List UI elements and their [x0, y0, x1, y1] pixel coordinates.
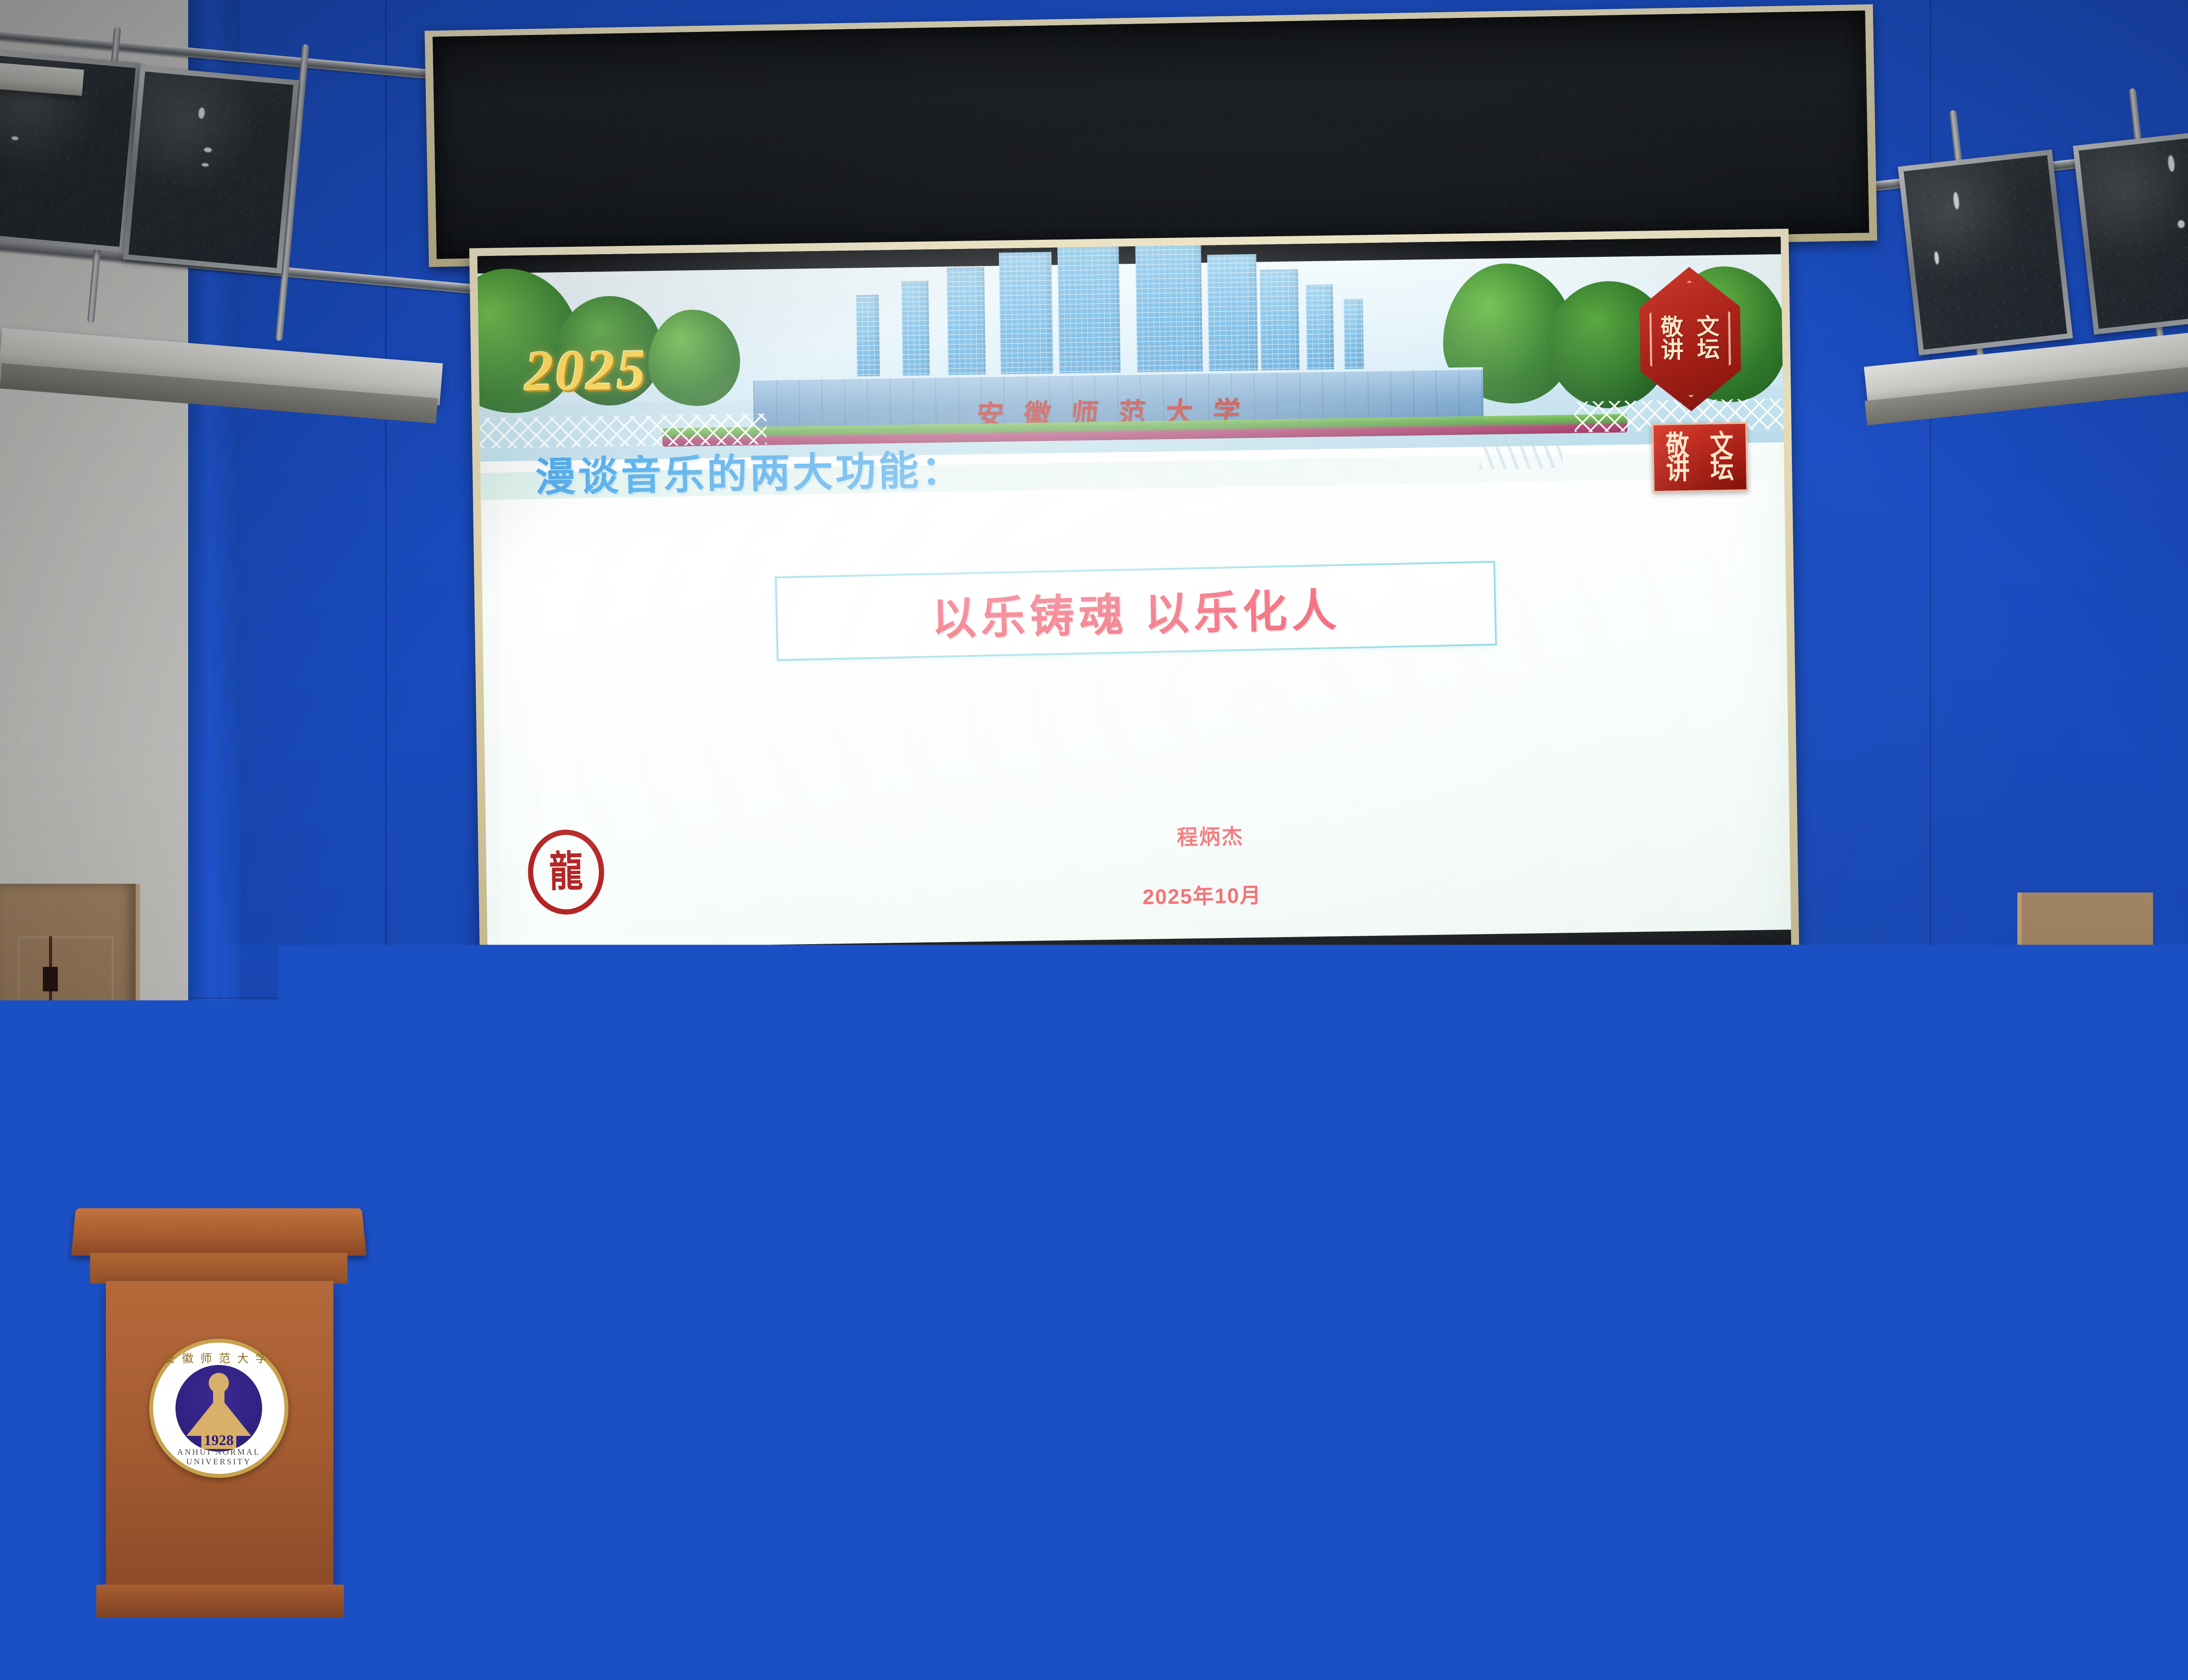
person-hair-side	[1419, 1122, 1434, 1172]
chair-headrest	[1746, 1075, 1814, 1199]
emblem-char: 文	[1690, 316, 1726, 339]
projection-screen-frame: 安徽师范大学 2025 敬 文 讲 坛 漫谈音乐的两大	[469, 229, 1799, 1005]
balcony-glass-panel	[123, 66, 299, 273]
podium-microphone-led-icon	[274, 1120, 282, 1125]
emblem-char: 坛	[1690, 339, 1726, 361]
seal-char: 讲	[1655, 455, 1700, 484]
plaque-char: 讲	[2148, 1073, 2188, 1158]
slide-headline-box: 以乐铸魂 以乐化人	[775, 561, 1497, 661]
balcony-glass-panel	[1898, 150, 2073, 356]
seal-char: 坛	[1700, 455, 1744, 483]
podium-neck	[90, 1253, 347, 1284]
projection-screen: 安徽师范大学 2025 敬 文 讲 坛 漫谈音乐的两大	[477, 237, 1792, 997]
emblem-char: 讲	[1655, 339, 1690, 362]
slide-seal-glyph: 龍	[549, 850, 583, 893]
balcony-right	[1838, 0, 2188, 341]
banner-emblem-inner: 敬 文 讲 坛	[1649, 280, 1732, 398]
slide-title: 漫谈音乐的两大功能：	[535, 437, 964, 503]
banner-year: 2025	[524, 336, 648, 404]
slide-circular-seal: 龍	[527, 829, 605, 915]
stage-floor	[0, 1347, 2188, 1680]
lecture-hall-photo: 安徽师范大学 2025 敬 文 讲 坛 漫谈音乐的两大	[0, 0, 2188, 1680]
chair-headrest	[2037, 1070, 2105, 1193]
glasses-lens	[1341, 1151, 1375, 1177]
chair-headrest	[626, 1100, 694, 1224]
title-decor-stripes	[1479, 434, 1562, 469]
glasses-lens	[1384, 1151, 1418, 1177]
balcony-glass-panel	[2073, 128, 2188, 335]
slide-date: 2025年10月	[1142, 878, 1262, 910]
screen-bottom-mask	[487, 930, 1792, 997]
led-display-surface	[433, 10, 1869, 259]
chair-headrest	[1532, 1078, 1600, 1202]
podium-top-surface	[71, 1208, 367, 1256]
wall-junction-box	[43, 967, 58, 991]
slide-corner-seal: 敬 文 讲 坛	[1652, 422, 1748, 493]
slide-headline: 以乐铸魂 以乐化人	[931, 574, 1341, 647]
slide-presenter-name: 程炳杰	[1177, 819, 1244, 850]
person-glasses	[1341, 1151, 1418, 1173]
podium-bottle-cap	[85, 1200, 98, 1208]
emblem-char: 敬	[1654, 317, 1690, 339]
led-display-panel	[424, 4, 1877, 267]
balcony-left	[0, 0, 473, 341]
